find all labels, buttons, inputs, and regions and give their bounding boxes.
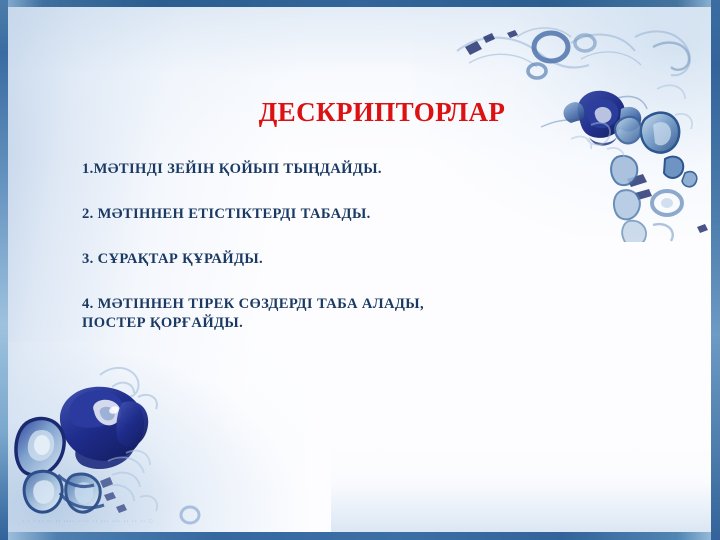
descriptor-item-4-text-continued: ПОСТЕР ҚОРҒАЙДЫ.	[82, 314, 552, 333]
background-wash-bottom-right	[331, 442, 711, 532]
descriptor-item-1: 1.МӘТІНДІ ЗЕЙІН ҚОЙЫП ТЫҢДАЙДЫ.	[82, 160, 552, 179]
descriptor-item-1-text: 1.МӘТІНДІ ЗЕЙІН ҚОЙЫП ТЫҢДАЙДЫ.	[82, 160, 552, 179]
descriptor-item-3-text: 3. СҰРАҚТАР ҚҰРАЙДЫ.	[82, 250, 552, 269]
page-title: ДЕСКРИПТОРЛАР	[0, 97, 720, 128]
slide-border-top	[0, 0, 720, 7]
slide-border-left	[0, 0, 8, 540]
descriptor-item-2: 2. МӘТІННЕН ЕТІСТІКТЕРДІ ТАБАДЫ.	[82, 205, 552, 224]
slide-border-right	[711, 0, 720, 540]
descriptor-list: 1.МӘТІНДІ ЗЕЙІН ҚОЙЫП ТЫҢДАЙДЫ. 2. МӘТІН…	[82, 160, 552, 333]
descriptor-item-4: 4. МӘТІННЕН ТІРЕК СӨЗДЕРДІ ТАБА АЛАДЫ, П…	[82, 295, 552, 333]
background-wash-bottom-left	[8, 342, 308, 532]
descriptor-item-2-text: 2. МӘТІННЕН ЕТІСТІКТЕРДІ ТАБАДЫ.	[82, 205, 552, 224]
slide-border-bottom	[0, 532, 720, 540]
descriptor-item-4-text: 4. МӘТІННЕН ТІРЕК СӨЗДЕРДІ ТАБА АЛАДЫ,	[82, 295, 552, 314]
descriptor-item-3: 3. СҰРАҚТАР ҚҰРАЙДЫ.	[82, 250, 552, 269]
slide-canvas: ДЕСКРИПТОРЛАР 1.МӘТІНДІ ЗЕЙІН ҚОЙЫП ТЫҢД…	[0, 0, 720, 540]
footer-watermark: · · · ·· ·· ·· ···· ···· ·· ··· ··· ·· ·…	[22, 518, 212, 527]
